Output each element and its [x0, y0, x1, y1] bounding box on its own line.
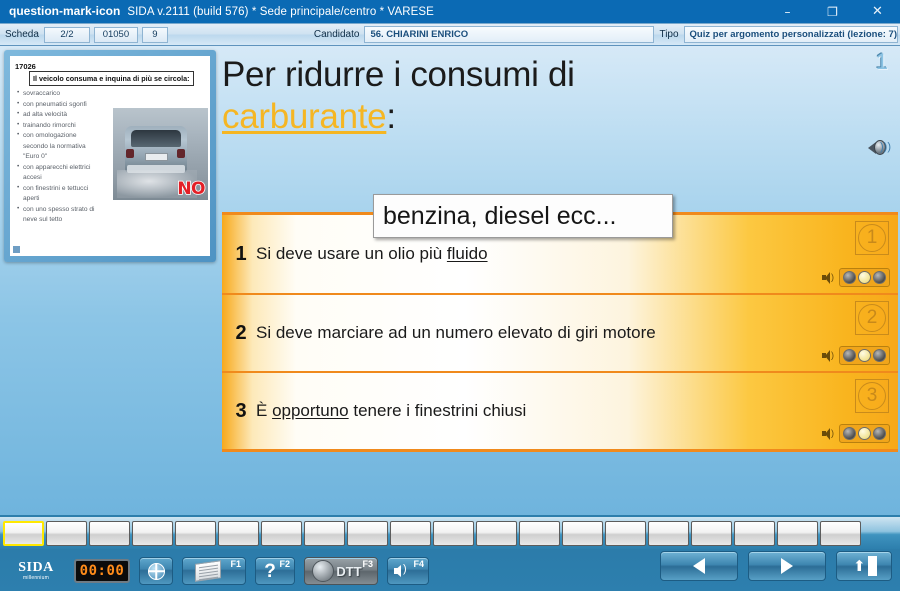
sida-logo-main: SIDA: [18, 561, 53, 575]
navigation-buttons: ⬆: [660, 551, 892, 581]
question-strip-button[interactable]: [261, 521, 302, 546]
exit-icon: ⬆: [851, 556, 877, 576]
car-plate-shape: [145, 153, 168, 161]
emblem-icon: [312, 560, 334, 582]
question-strip-button[interactable]: [648, 521, 689, 546]
close-button[interactable]: ✕: [855, 0, 900, 23]
next-arrow-icon: [781, 558, 793, 574]
audio-fkey-label: F4: [413, 559, 424, 569]
question-highlight-term[interactable]: carburante: [222, 97, 386, 136]
question-strip-button[interactable]: [3, 521, 44, 546]
scheda-value-field[interactable]: 2/2: [44, 27, 90, 43]
question-strip-button[interactable]: [691, 521, 732, 546]
answer-status-indicator[interactable]: ): [821, 268, 890, 287]
sida-logo-sub: millennium: [23, 575, 49, 581]
question-heading: Per ridurre i consumi di carburante:: [222, 54, 782, 138]
answer-glossary-term[interactable]: fluido: [447, 244, 488, 263]
candidato-value-field[interactable]: 56. CHIARINI ENRICO: [364, 26, 654, 43]
slide-bullet-item: neve sul tetto: [17, 215, 109, 225]
answer-light-dot[interactable]: [858, 427, 871, 440]
application-window: question-mark-icon SIDA v.2111 (build 57…: [0, 0, 900, 591]
manual-fkey-label: F1: [230, 559, 241, 569]
manual-button[interactable]: F1: [182, 557, 246, 585]
answer-badge-number: 2: [858, 304, 886, 332]
slide-image: 17026 Il veicolo consuma e inquina di pi…: [10, 56, 210, 256]
previous-arrow-icon: [693, 558, 705, 574]
speaker-waves: ): [831, 273, 834, 282]
slide-bullet-item: con pneumatici sgonfi: [17, 100, 109, 110]
answer-light-box[interactable]: [839, 424, 890, 443]
speaker-waves: ): [831, 429, 834, 438]
slide-bullet-item: accesi: [17, 173, 109, 183]
dtt-button[interactable]: DTT F3: [304, 557, 378, 585]
question-strip-button[interactable]: [347, 521, 388, 546]
exit-door-shape: [868, 556, 877, 576]
timer-display: 00:00: [74, 559, 130, 583]
answer-badge: 3: [855, 379, 889, 413]
tipo-value-field[interactable]: Quiz per argomento personalizzati (lezio…: [684, 26, 898, 43]
answer-text: Si deve marciare ad un numero elevato di…: [256, 323, 656, 343]
car-window-shape: [131, 130, 181, 147]
question-strip-button[interactable]: [562, 521, 603, 546]
answer-light-box[interactable]: [839, 268, 890, 287]
slide-bullet-item: secondo la normativa: [17, 142, 109, 152]
audio-button[interactable]: ) F4: [387, 557, 429, 585]
question-strip-button[interactable]: [304, 521, 345, 546]
answer-status-indicator[interactable]: ): [821, 346, 890, 365]
answer-light-dot[interactable]: [873, 427, 886, 440]
scheda-label: Scheda: [0, 29, 44, 40]
slide-bullet-item: con finestrini e tettucci: [17, 184, 109, 194]
web-button[interactable]: [139, 557, 173, 585]
window-controls: – ❐ ✕: [765, 0, 900, 23]
question-strip-button[interactable]: [476, 521, 517, 546]
question-strip-button[interactable]: [605, 521, 646, 546]
speaker-waves: ))): [880, 142, 891, 153]
slide-bullet-item: con uno spesso strato di: [17, 205, 109, 215]
slide-bullet-list: sovraccaricocon pneumatici sgonfiad alta…: [17, 89, 109, 226]
answer-light-dot[interactable]: [843, 349, 856, 362]
answer-badge: 2: [855, 301, 889, 335]
question-navigation-strip: [0, 517, 900, 549]
question-strip-button[interactable]: [777, 521, 818, 546]
exit-arrow-shape: ⬆: [853, 559, 866, 574]
next-button[interactable]: [748, 551, 826, 581]
maximize-button[interactable]: ❐: [810, 0, 855, 23]
quiz-content-area: 17026 Il veicolo consuma e inquina di pi…: [0, 46, 900, 515]
answer-number: 3: [226, 400, 256, 423]
answer-speaker-icon[interactable]: ): [821, 349, 835, 362]
answer-glossary-term[interactable]: opportuno: [272, 401, 349, 420]
speaker-icon: ): [394, 563, 412, 579]
answer-badge-number: 3: [858, 382, 886, 410]
tipo-label: Tipo: [654, 29, 683, 40]
globe-icon: [148, 563, 165, 580]
question-strip-button[interactable]: [519, 521, 560, 546]
answer-number: 1: [226, 243, 256, 266]
answer-speaker-icon[interactable]: ): [821, 427, 835, 440]
page-number-indicator: 1: [876, 49, 888, 75]
bottom-bar: SIDA millennium 00:00 F1 ? F2 DTT F3: [0, 515, 900, 591]
answer-number: 2: [226, 322, 256, 345]
question-colon: :: [386, 97, 395, 136]
car-taillight-left: [126, 149, 134, 158]
question-strip-button[interactable]: [433, 521, 474, 546]
speaker-waves: ): [831, 351, 834, 360]
speaker-cone: [394, 565, 401, 577]
exit-button[interactable]: ⬆: [836, 551, 892, 581]
question-strip-button[interactable]: [218, 521, 259, 546]
answer-row[interactable]: 2Si deve marciare ad un numero elevato d…: [222, 293, 898, 371]
dtt-fkey-label: F3: [362, 559, 373, 569]
slide-bullet-item: ad alta velocità: [17, 110, 109, 120]
help-button[interactable]: ? F2: [255, 557, 295, 585]
answer-row[interactable]: 3È opportuno tenere i finestrini chiusi3…: [222, 371, 898, 449]
answer-badge: 1: [855, 221, 889, 255]
answer-text: Si deve usare un olio più fluido: [256, 244, 488, 264]
speaker-waves: ): [403, 564, 407, 575]
slide-corner-marker: [13, 246, 20, 253]
sub-header-bar: Scheda 2/2 01050 9 Candidato 56. CHIARIN…: [0, 23, 900, 46]
slide-code: 17026: [15, 62, 36, 71]
answer-light-dot[interactable]: [858, 349, 871, 362]
car-taillight-right: [177, 149, 185, 158]
minimize-button[interactable]: –: [765, 0, 810, 23]
sida-logo: SIDA millennium: [8, 559, 64, 583]
slide-bullet-item: con omologazione: [17, 131, 109, 141]
answer-light-box[interactable]: [839, 346, 890, 365]
question-mark-icon: ?: [264, 562, 276, 581]
window-title: SIDA v.2111 (build 576) * Sede principal…: [127, 6, 434, 18]
slide-bullet-item: trainando rimorchi: [17, 121, 109, 131]
question-strip-button[interactable]: [132, 521, 173, 546]
answer-light-dot[interactable]: [858, 271, 871, 284]
answer-speaker-icon[interactable]: ): [821, 271, 835, 284]
no-stamp-label: NO: [177, 179, 205, 199]
question-line-1: Per ridurre i consumi di: [222, 55, 575, 94]
glossary-tooltip: benzina, diesel ecc...: [373, 194, 673, 238]
question-strip-button[interactable]: [175, 521, 216, 546]
slide-bullet-item: con apparecchi elettrici: [17, 163, 109, 173]
book-icon: [195, 560, 221, 582]
answer-light-dot[interactable]: [873, 271, 886, 284]
scheda-code-field[interactable]: 01050: [94, 27, 138, 43]
answer-light-dot[interactable]: [843, 271, 856, 284]
title-bar: question-mark-icon SIDA v.2111 (build 57…: [0, 0, 900, 23]
answers-list: 1Si deve usare un olio più fluido1)2Si d…: [222, 212, 898, 452]
slide-bullet-item: "Euro 0": [17, 152, 109, 162]
candidato-label: Candidato: [309, 29, 365, 40]
slide-title: Il veicolo consuma e inquina di più se c…: [29, 71, 194, 86]
question-strip-button[interactable]: [820, 521, 861, 546]
question-audio-speaker-icon[interactable]: ))): [868, 138, 890, 158]
scheda-num-field[interactable]: 9: [142, 27, 168, 43]
answer-text: È opportuno tenere i finestrini chiusi: [256, 401, 526, 421]
question-strip-button[interactable]: [46, 521, 87, 546]
slide-photo: NO: [113, 108, 208, 200]
dtt-label: DTT: [336, 564, 361, 579]
slide-bullet-item: aperti: [17, 194, 109, 204]
question-strip-button[interactable]: [89, 521, 130, 546]
answer-status-indicator[interactable]: ): [821, 424, 890, 443]
answer-light-dot[interactable]: [873, 349, 886, 362]
answer-badge-number: 1: [858, 224, 886, 252]
question-strip-button[interactable]: [390, 521, 431, 546]
answer-light-dot[interactable]: [843, 427, 856, 440]
previous-button[interactable]: [660, 551, 738, 581]
question-strip-button[interactable]: [734, 521, 775, 546]
help-fkey-label: F2: [279, 559, 290, 569]
slide-bullet-item: sovraccarico: [17, 89, 109, 99]
help-question-icon: question-mark-icon: [0, 0, 127, 23]
slide-thumbnail-panel[interactable]: 17026 Il veicolo consuma e inquina di pi…: [4, 50, 216, 262]
